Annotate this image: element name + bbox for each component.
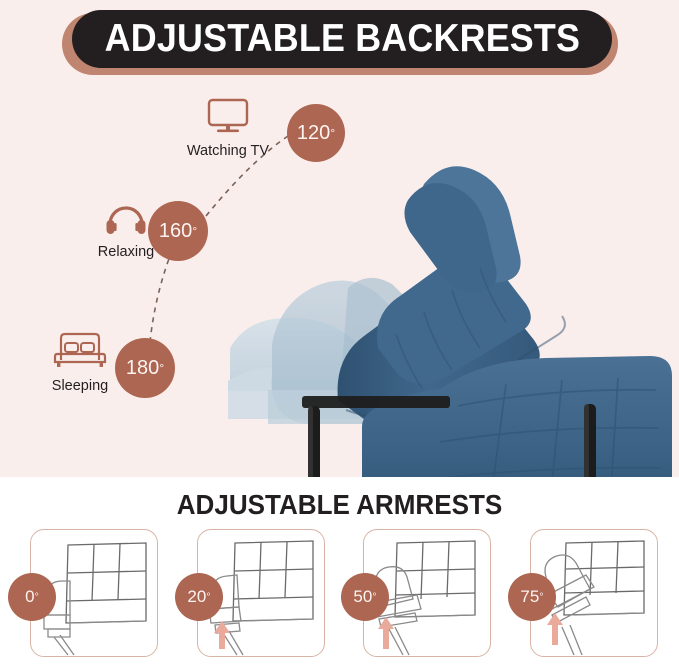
degree-symbol: °	[330, 127, 335, 139]
degree-symbol: °	[539, 592, 543, 603]
activity-watching-tv: Watching TV	[178, 97, 278, 159]
backrests-header-banner: ADJUSTABLE BACKRESTS	[62, 13, 618, 75]
armrest-angle-value: 75	[520, 587, 539, 607]
degree-symbol: °	[192, 225, 197, 237]
page-title: ADJUSTABLE BACKRESTS	[104, 17, 579, 61]
angle-badge-160: 160°	[148, 201, 208, 261]
armrest-panel-0: 0°	[8, 525, 160, 665]
activity-label-sleeping: Sleeping	[30, 378, 130, 394]
armrest-panel-20: 20°	[175, 525, 327, 665]
angle-badge-160-value: 160	[159, 221, 192, 241]
angle-badge-120-value: 120	[297, 123, 330, 143]
armrest-angle-value: 20	[187, 587, 206, 607]
armrest-angle-value: 50	[353, 587, 372, 607]
armrest-panel-75: 75°	[508, 525, 660, 665]
headphones-icon	[103, 196, 149, 236]
angle-badge-120: 120°	[287, 104, 345, 162]
activity-label-watching-tv: Watching TV	[178, 143, 278, 159]
armrest-angle-badge-20: 20°	[175, 573, 223, 621]
up-arrow-icon	[547, 613, 563, 645]
armrest-angle-badge-50: 50°	[341, 573, 389, 621]
armrest-panel-50: 50°	[341, 525, 493, 665]
angle-badge-180: 180°	[115, 338, 175, 398]
armrest-panel-row: 0°	[0, 525, 679, 667]
degree-symbol: °	[159, 362, 164, 374]
degree-symbol: °	[35, 592, 39, 603]
header-pill: ADJUSTABLE BACKRESTS	[72, 10, 612, 68]
degree-symbol: °	[372, 592, 376, 603]
adjustable-backrests-section: ADJUSTABLE BACKRESTS	[0, 0, 679, 477]
bed-icon	[53, 330, 107, 370]
armrests-section-title: ADJUSTABLE ARMRESTS	[24, 489, 655, 521]
adjustable-armrests-section: ADJUSTABLE ARMRESTS	[0, 477, 679, 667]
armrest-angle-badge-75: 75°	[508, 573, 556, 621]
armrest-angle-value: 0	[25, 587, 34, 607]
degree-symbol: °	[206, 592, 210, 603]
tv-icon	[205, 97, 251, 135]
angle-badge-180-value: 180	[126, 358, 159, 378]
armrest-angle-badge-0: 0°	[8, 573, 56, 621]
sofa-product-illustration	[228, 138, 679, 477]
